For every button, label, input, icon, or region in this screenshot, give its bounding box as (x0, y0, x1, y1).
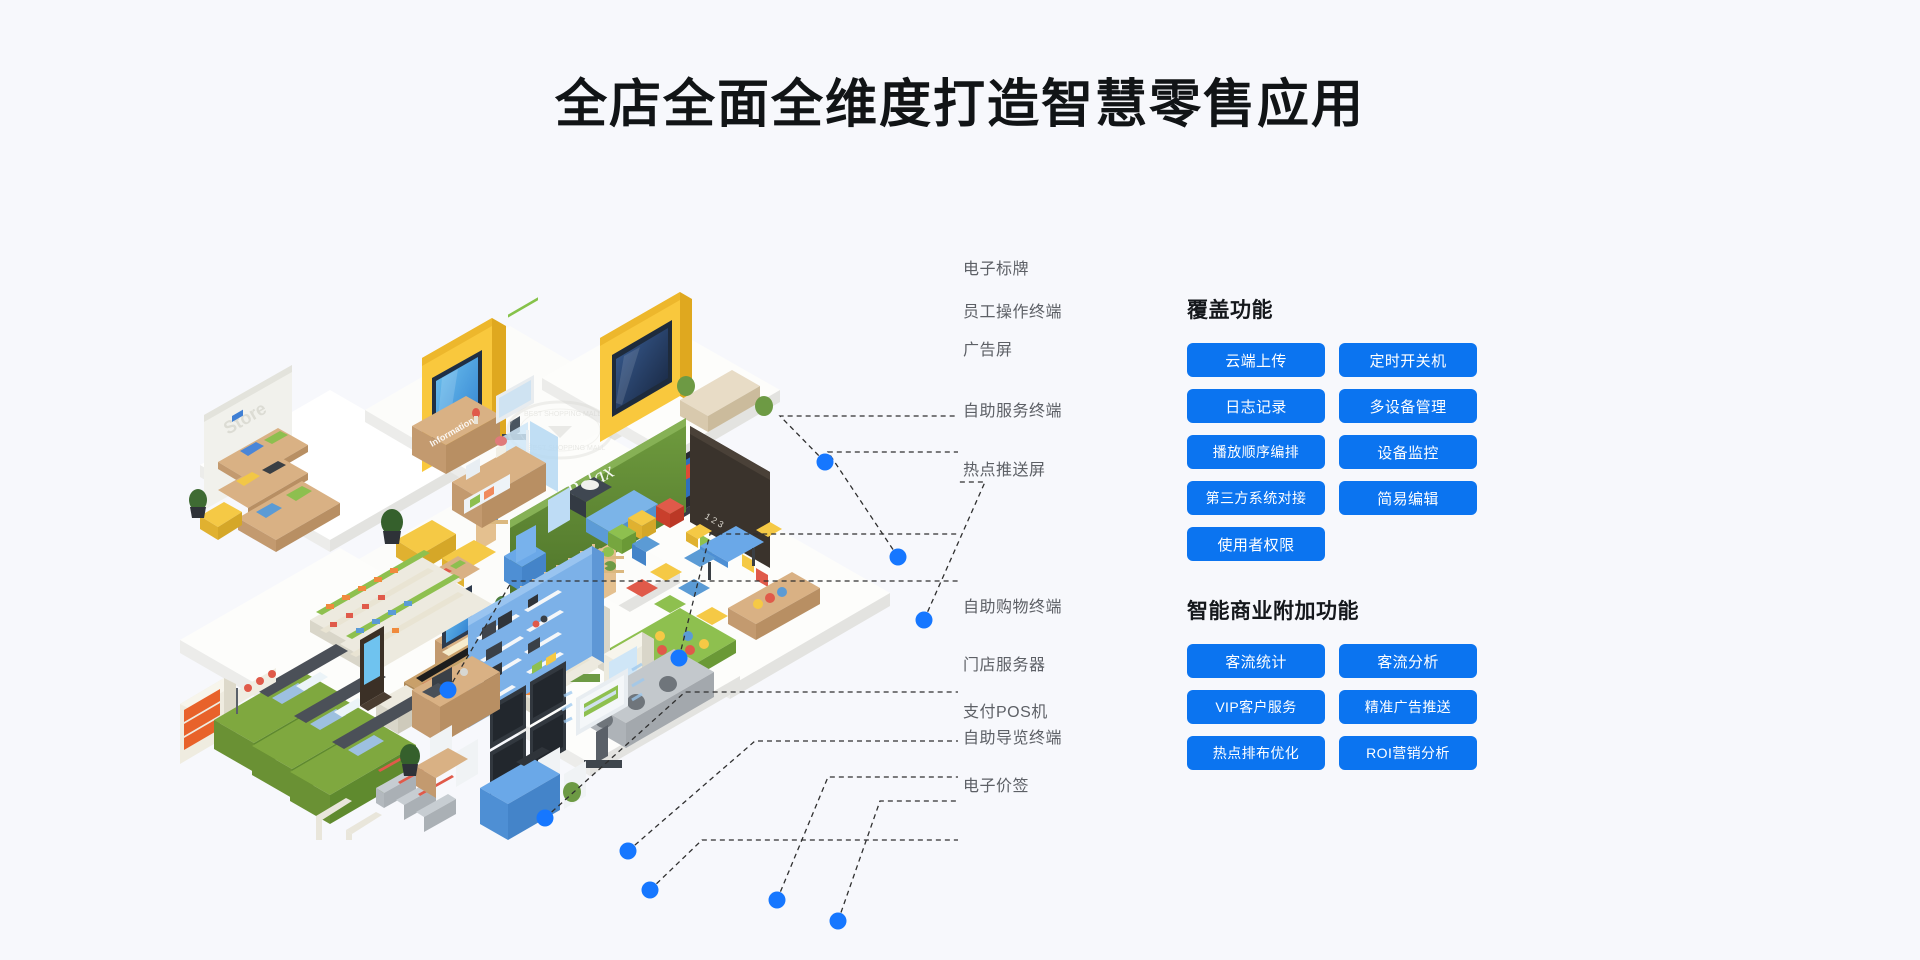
page-root: 全店全面全维度打造智慧零售应用 (0, 0, 1920, 960)
callout-label-4: 自助服务终端 (963, 397, 1062, 421)
callout-label-7: 门店服务器 (963, 651, 1046, 675)
callout-label-9: 自助导览终端 (963, 724, 1062, 748)
chip-coverage-8[interactable]: 简易编辑 (1339, 481, 1477, 515)
callout-label-1: 电子标牌 (963, 255, 1029, 279)
callout-label-6: 自助购物终端 (963, 593, 1062, 617)
panel-addons: 智能商业附加功能 客流统计客流分析VIP客户服务精准广告推送热点排布优化ROI营… (1187, 595, 1627, 770)
chip-addons-2[interactable]: 客流分析 (1339, 644, 1477, 678)
chip-addons-4[interactable]: 精准广告推送 (1339, 690, 1477, 724)
chip-coverage-3[interactable]: 日志记录 (1187, 389, 1325, 423)
panel-coverage: 覆盖功能 云端上传定时开关机日志记录多设备管理播放顺序编排设备监控第三方系统对接… (1187, 294, 1627, 561)
panel-coverage-title: 覆盖功能 (1187, 294, 1627, 324)
chip-addons-5[interactable]: 热点排布优化 (1187, 736, 1325, 770)
chip-addons-6[interactable]: ROI营销分析 (1339, 736, 1477, 770)
chip-coverage-5[interactable]: 播放顺序编排 (1187, 435, 1325, 469)
callout-label-8: 支付POS机 (963, 698, 1048, 722)
chip-coverage-4[interactable]: 多设备管理 (1339, 389, 1477, 423)
chip-coverage-6[interactable]: 设备监控 (1339, 435, 1477, 469)
chip-addons-1[interactable]: 客流统计 (1187, 644, 1325, 678)
panel-coverage-chip-grid: 云端上传定时开关机日志记录多设备管理播放顺序编排设备监控第三方系统对接简易编辑使… (1187, 343, 1627, 561)
callout-label-2: 员工操作终端 (963, 298, 1062, 322)
chip-addons-3[interactable]: VIP客户服务 (1187, 690, 1325, 724)
isometric-store-illustration: Store (180, 200, 960, 840)
chip-coverage-2[interactable]: 定时开关机 (1339, 343, 1477, 377)
page-title: 全店全面全维度打造智慧零售应用 (0, 62, 1920, 137)
chip-coverage-1[interactable]: 云端上传 (1187, 343, 1325, 377)
chip-coverage-7[interactable]: 第三方系统对接 (1187, 481, 1325, 515)
chip-coverage-9[interactable]: 使用者权限 (1187, 527, 1325, 561)
panel-addons-chip-grid: 客流统计客流分析VIP客户服务精准广告推送热点排布优化ROI营销分析 (1187, 644, 1627, 770)
callout-label-3: 广告屏 (963, 336, 1013, 360)
panel-addons-title: 智能商业附加功能 (1187, 595, 1627, 625)
svg-text:BEST SHOPPING MALL: BEST SHOPPING MALL (524, 411, 601, 418)
callout-label-10: 电子价签 (963, 772, 1029, 796)
callout-label-5: 热点推送屏 (963, 456, 1046, 480)
